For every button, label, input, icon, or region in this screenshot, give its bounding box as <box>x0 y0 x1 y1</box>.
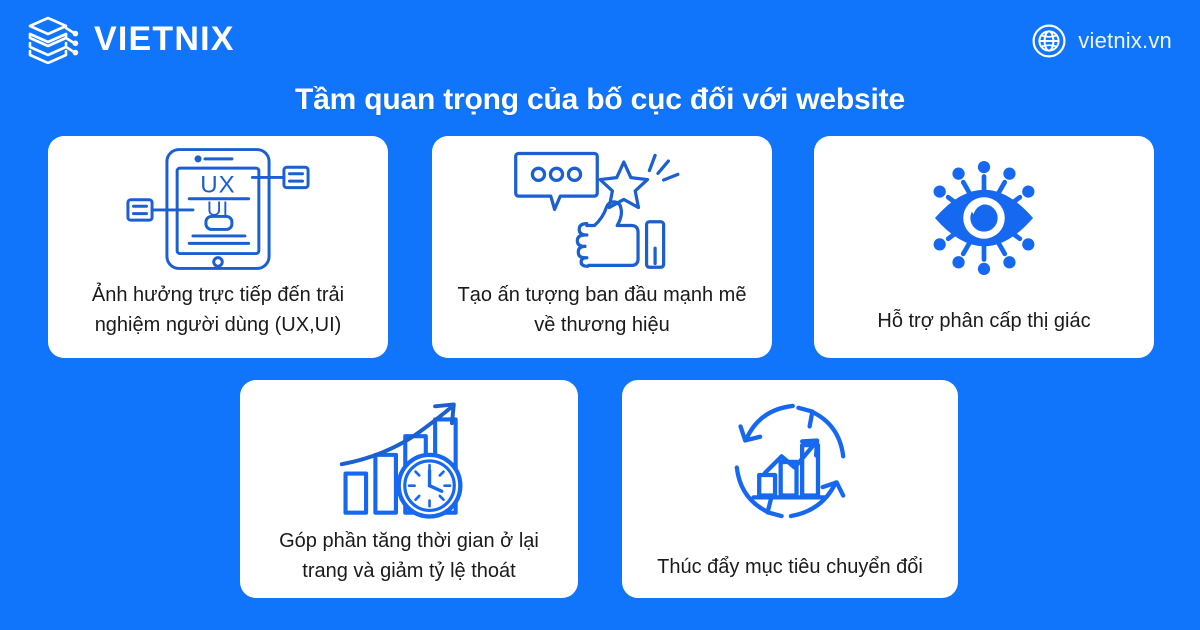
feature-card-label: Hỗ trợ phân cấp thị giác <box>814 306 1154 336</box>
eye-visual-hierarchy-icon <box>814 136 1154 284</box>
feature-card-ux-ui[interactable]: UX UI Ảnh hưởng trực tiếp đến trải nghiệ… <box>48 136 388 358</box>
feature-card-conversion-goal[interactable]: Thúc đẩy mục tiêu chuyển đổi <box>622 380 958 598</box>
page-title: Tầm quan trọng của bố cục đối với websit… <box>0 80 1200 120</box>
globe-icon <box>1032 24 1066 58</box>
svg-text:UI: UI <box>207 199 229 221</box>
site-url-badge[interactable]: vietnix.vn <box>1032 24 1172 58</box>
brand-logo[interactable]: VIETNIX <box>26 14 235 64</box>
feature-card-label: Góp phần tăng thời gian ở lại trang và g… <box>240 526 578 586</box>
feature-card-time-on-page[interactable]: Góp phần tăng thời gian ở lại trang và g… <box>240 380 578 598</box>
tablet-ux-ui-wireframe-icon: UX UI <box>48 136 388 274</box>
feature-card-brand-impression[interactable]: Tạo ấn tượng ban đầu mạnh mẽ về thương h… <box>432 136 772 358</box>
conversion-cycle-arrows-chart-icon <box>622 380 958 528</box>
brand-name: VIETNIX <box>94 22 235 56</box>
growth-bar-chart-clock-icon <box>240 380 578 520</box>
stacked-layers-logo-icon <box>26 14 80 64</box>
page-header: VIETNIX vietnix.vn <box>0 0 1200 78</box>
feature-card-visual-hierarchy[interactable]: Hỗ trợ phân cấp thị giác <box>814 136 1154 358</box>
site-url-label: vietnix.vn <box>1078 30 1172 52</box>
svg-text:UX: UX <box>200 171 235 198</box>
feature-card-label: Tạo ấn tượng ban đầu mạnh mẽ về thương h… <box>432 280 772 340</box>
speech-bubble-star-thumbs-up-icon <box>432 136 772 272</box>
feature-card-label: Thúc đẩy mục tiêu chuyển đổi <box>622 552 958 582</box>
feature-card-label: Ảnh hưởng trực tiếp đến trải nghiệm ngườ… <box>48 280 388 340</box>
